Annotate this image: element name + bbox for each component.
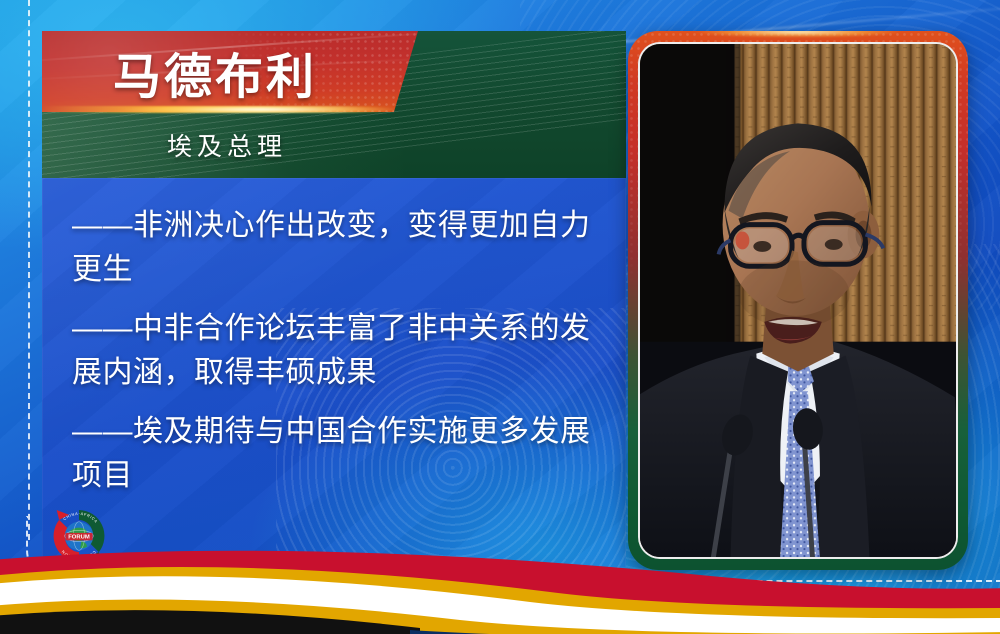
bullet-list: ——非洲决心作出改变，变得更加自力更生 ——中非合作论坛丰富了非中关系的发展内涵… [72,204,606,498]
bullet-item: ——非洲决心作出改变，变得更加自力更生 [72,204,606,293]
bullet-item: ——埃及期待与中国合作实施更多发展项目 [72,410,606,499]
subtitle-text: 埃及总理 [42,112,626,178]
dashed-guide-vertical [28,0,30,540]
bullet-item: ——中非合作论坛丰富了非中关系的发展内涵，取得丰硕成果 [72,307,606,396]
bottom-wave-ribbon [0,530,1000,634]
slide-canvas: 马德布利 埃及总理 ——非洲决心作出改变，变得更加自力更生 ——中非合作论坛丰富… [0,0,1000,634]
portrait-frame-top-glow [669,31,927,37]
page-title: 马德布利 [42,31,418,112]
title-banner: 马德布利 [42,31,418,112]
body-panel: ——非洲决心作出改变，变得更加自力更生 ——中非合作论坛丰富了非中关系的发展内涵… [42,178,626,568]
portrait-frame [628,31,968,570]
portrait-photo [638,42,958,559]
